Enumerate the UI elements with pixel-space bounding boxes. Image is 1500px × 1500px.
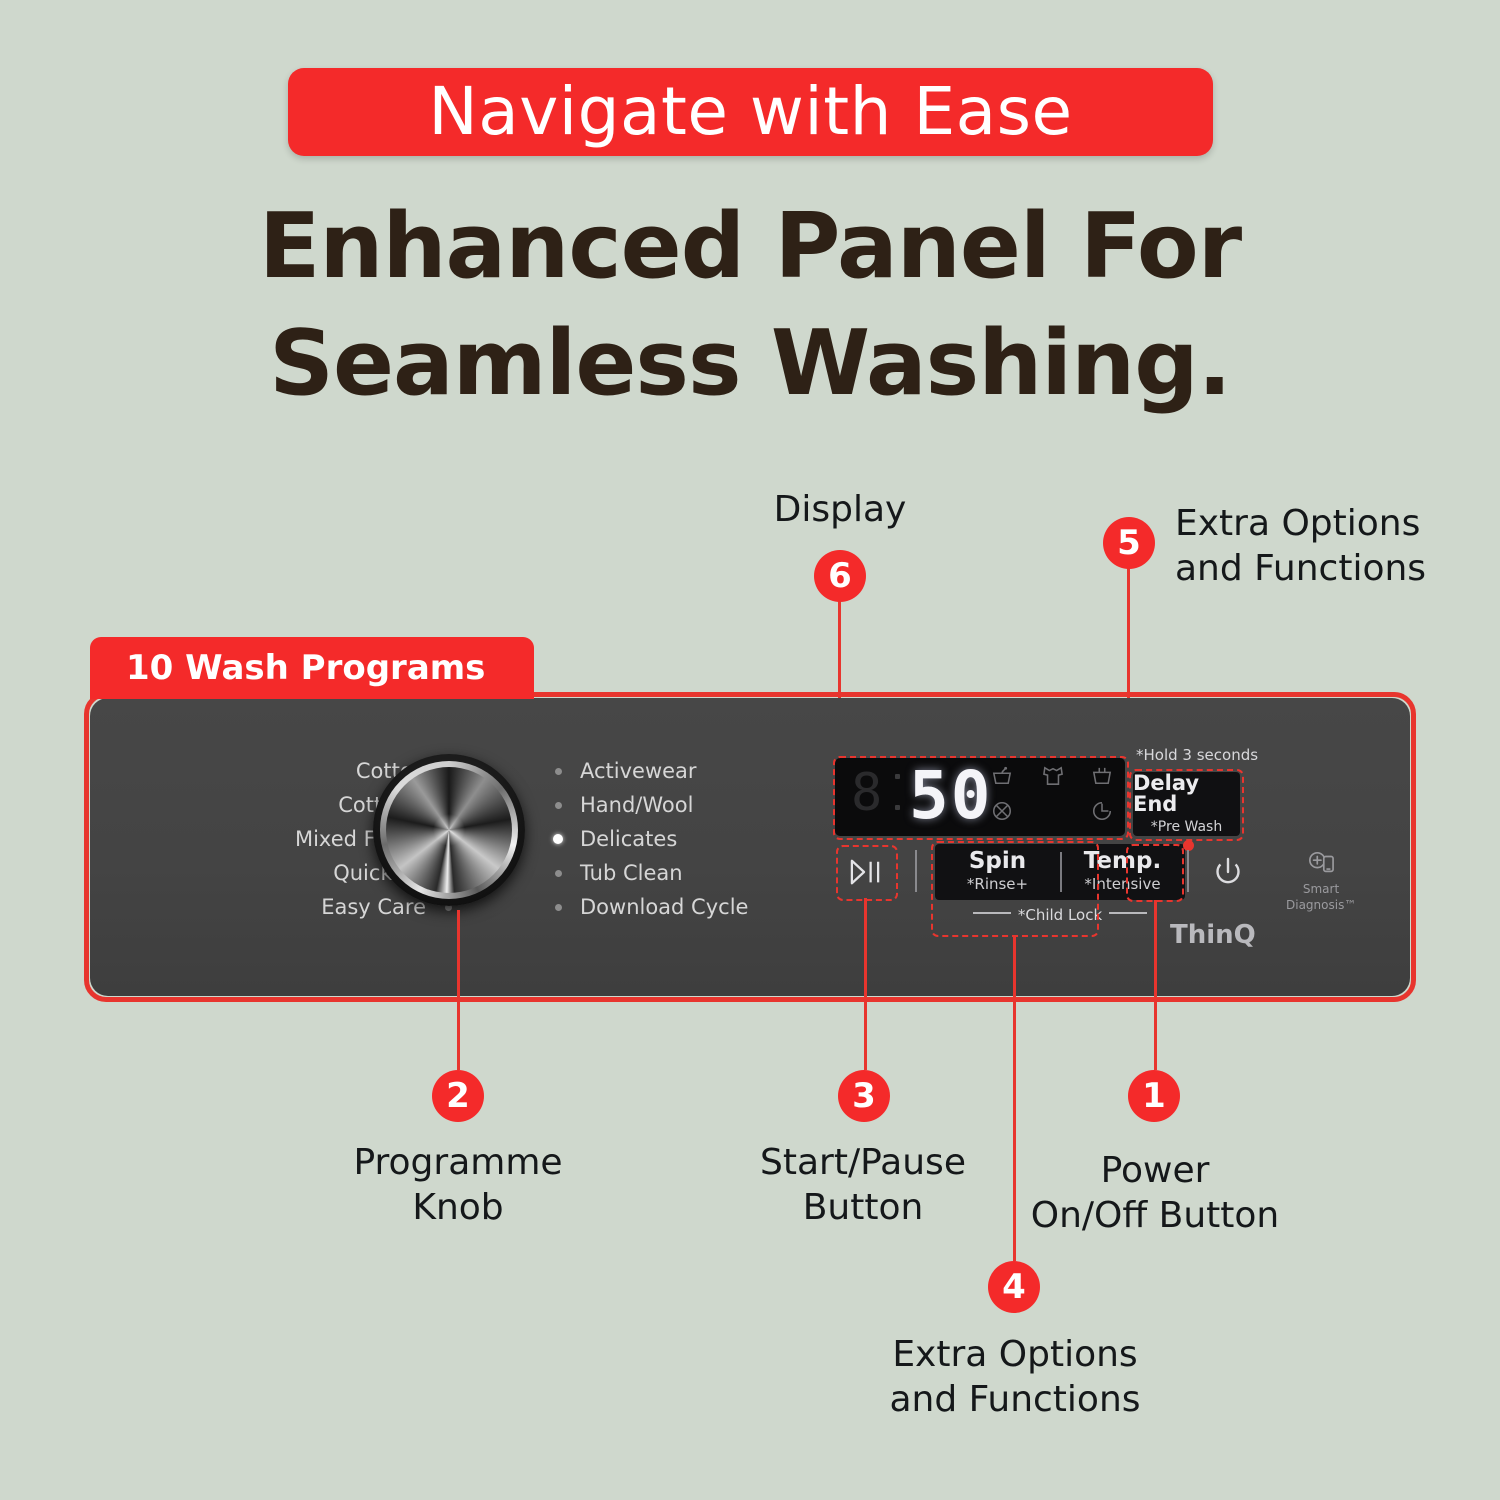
headline-line-1: Enhanced Panel For bbox=[0, 188, 1500, 305]
callout-bubble-4: 4 bbox=[988, 1261, 1040, 1313]
wash-programs-badge-label: 10 Wash Programs bbox=[126, 648, 485, 688]
callout-bubble-5: 5 bbox=[1103, 517, 1155, 569]
infographic-canvas: Navigate with Ease Enhanced Panel For Se… bbox=[0, 0, 1500, 1500]
callout-bubble-3: 3 bbox=[838, 1070, 890, 1122]
callout-label-extra-options-bottom: Extra Options and Functions bbox=[845, 1332, 1185, 1422]
callout-2-line-1: Programme bbox=[310, 1140, 606, 1185]
callout-label-programme-knob: Programme Knob bbox=[310, 1140, 606, 1230]
callout-4-line-2: and Functions bbox=[845, 1377, 1185, 1422]
callout-label-display: Display bbox=[700, 487, 980, 532]
page-title: Enhanced Panel For Seamless Washing. bbox=[0, 188, 1500, 422]
callout-1-line-2: On/Off Button bbox=[1005, 1193, 1305, 1238]
callout-label-start-pause: Start/Pause Button bbox=[715, 1140, 1011, 1230]
callout-5-line-1: Extra Options bbox=[1175, 501, 1475, 546]
callout-1-line-1: Power bbox=[1005, 1148, 1305, 1193]
callout-bubble-6: 6 bbox=[814, 550, 866, 602]
callout-5-line-2: and Functions bbox=[1175, 546, 1475, 591]
wash-programs-badge: 10 Wash Programs bbox=[90, 637, 534, 699]
headline-line-2: Seamless Washing. bbox=[0, 305, 1500, 422]
ribbon-label: Navigate with Ease bbox=[428, 79, 1072, 145]
callout-bubble-1: 1 bbox=[1128, 1070, 1180, 1122]
callout-2-line-2: Knob bbox=[310, 1185, 606, 1230]
panel-highlight-outline bbox=[84, 692, 1416, 1002]
ribbon-banner: Navigate with Ease bbox=[288, 68, 1213, 156]
callout-bubble-2: 2 bbox=[432, 1070, 484, 1122]
callout-4-line-1: Extra Options bbox=[845, 1332, 1185, 1377]
callout-label-power: Power On/Off Button bbox=[1005, 1148, 1305, 1238]
callout-3-line-1: Start/Pause bbox=[715, 1140, 1011, 1185]
callout-3-line-2: Button bbox=[715, 1185, 1011, 1230]
callout-label-extra-options-top: Extra Options and Functions bbox=[1175, 501, 1475, 591]
